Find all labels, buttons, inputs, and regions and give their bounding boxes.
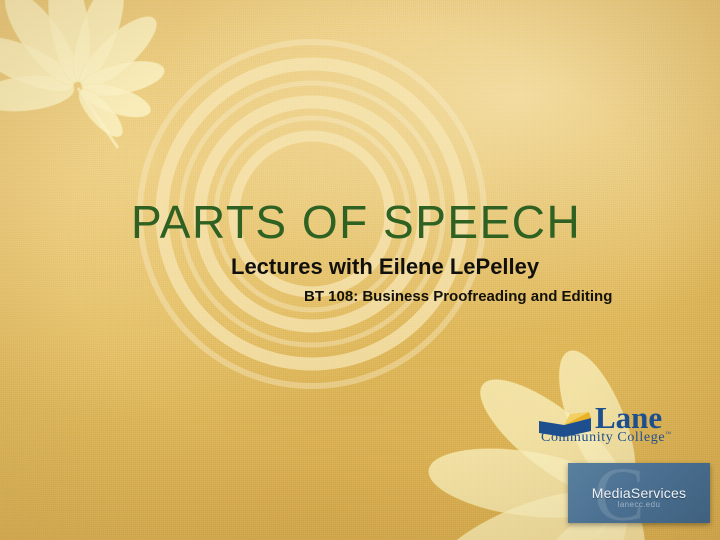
trademark-icon: ™ xyxy=(665,431,671,437)
logo-wordmark: Lane xyxy=(595,402,662,433)
logo-tagline-text: Community College xyxy=(541,430,665,445)
logo-tagline: Community College™ xyxy=(541,430,672,446)
media-services-label: MediaServices xyxy=(568,485,710,501)
presentation-title-slide: PARTS OF SPEECH Lectures with Eilene LeP… xyxy=(0,0,720,540)
media-services-badge: C MediaServices lanecc.edu xyxy=(568,463,710,523)
slide-course-line: BT 108: Business Proofreading and Editin… xyxy=(0,280,720,305)
page-title: PARTS OF SPEECH xyxy=(0,198,720,246)
slide-subtitle: Lectures with Eilene LePelley xyxy=(0,246,720,279)
media-services-url: lanecc.edu xyxy=(568,500,710,509)
lane-community-college-logo: Lane Community College™ xyxy=(535,404,685,450)
slide-text-block: PARTS OF SPEECH Lectures with Eilene LeP… xyxy=(0,198,720,305)
